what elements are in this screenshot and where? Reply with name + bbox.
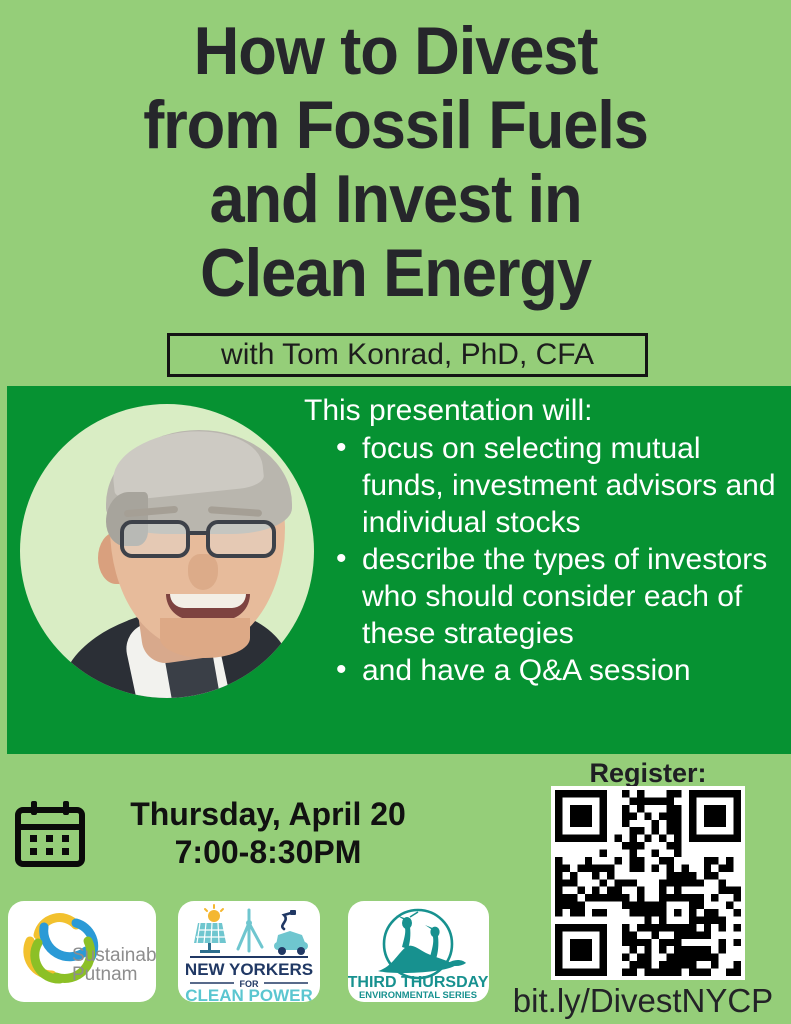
registration-url[interactable]: bit.ly/DivestNYCP: [495, 983, 791, 1019]
panel-intro-text: This presentation will:: [304, 392, 786, 430]
heron-bird-icon: [378, 910, 466, 978]
sustainable-putnam-line2: Putnam: [72, 964, 137, 985]
presentation-details-panel: This presentation will: focus on selecti…: [7, 386, 791, 754]
solar-panel-icon: [194, 905, 226, 953]
event-poster: How to Divest from Fossil Fuels and Inve…: [0, 0, 791, 1024]
qr-code[interactable]: [551, 786, 745, 980]
title-line-3: and Invest in: [28, 162, 764, 236]
electric-car-icon: [274, 910, 308, 955]
calendar-icon: [14, 800, 86, 868]
speaker-credit-text: with Tom Konrad, PhD, CFA: [221, 338, 594, 372]
nyfcp-line3: CLEAN POWER: [185, 986, 313, 1002]
register-label: Register:: [505, 758, 791, 788]
list-item: and have a Q&A session: [334, 652, 786, 689]
avatar: [17, 400, 317, 740]
event-time: 7:00-8:30PM: [98, 833, 438, 871]
nyfcp-line1: NEW YORKERS: [185, 960, 313, 979]
third-thursday-line2: ENVIRONMENTAL SERIES: [359, 989, 477, 1000]
title-line-4: Clean Energy: [28, 236, 764, 310]
speaker-portrait-photo: [20, 404, 314, 698]
panel-copy: This presentation will: focus on selecti…: [304, 392, 786, 689]
page-title: How to Divest from Fossil Fuels and Inve…: [0, 14, 791, 310]
third-thursday-logo[interactable]: THIRD THURSDAY ENVIRONMENTAL SERIES: [348, 901, 489, 1002]
new-yorkers-for-clean-power-logo[interactable]: NEW YORKERS FOR CLEAN POWER: [178, 901, 320, 1002]
sustainable-putnam-line1: Sustainable: [72, 945, 156, 966]
sustainable-putnam-logo[interactable]: Sustainable Putnam: [8, 901, 156, 1002]
speaker-credit-box: with Tom Konrad, PhD, CFA: [167, 333, 648, 377]
list-item: focus on selecting mutual funds, investm…: [334, 430, 786, 541]
event-datetime: Thursday, April 20 7:00-8:30PM: [98, 795, 438, 871]
title-line-2: from Fossil Fuels: [28, 88, 764, 162]
wind-turbine-icon: [238, 910, 262, 951]
presentation-bullet-list: focus on selecting mutual funds, investm…: [304, 430, 786, 689]
title-line-1: How to Divest: [28, 14, 764, 88]
event-date: Thursday, April 20: [98, 795, 438, 833]
sponsor-logo-row: Sustainable Putnam: [0, 898, 510, 1008]
list-item: describe the types of investors who shou…: [334, 541, 786, 652]
